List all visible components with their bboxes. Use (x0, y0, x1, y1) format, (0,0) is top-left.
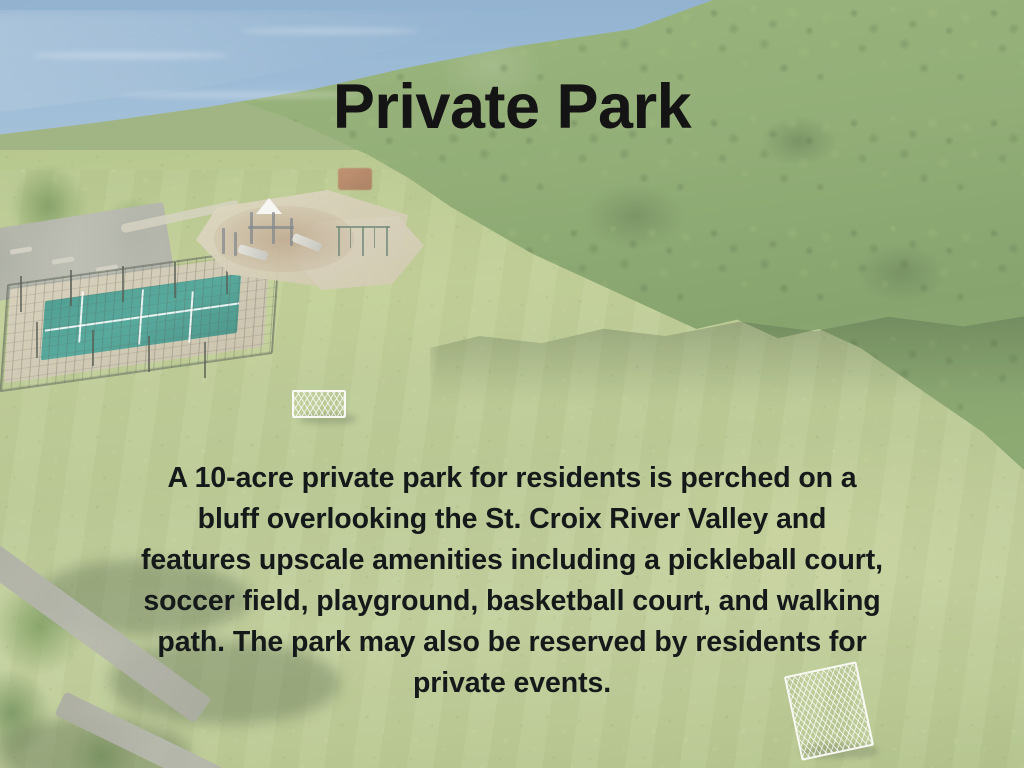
slide-canvas: Private Park A 10-acre private park for … (0, 0, 1024, 768)
page-title: Private Park (0, 76, 1024, 139)
description-text: A 10-acre private park for residents is … (140, 458, 884, 704)
text-overlay: Private Park A 10-acre private park for … (0, 0, 1024, 768)
description-block: A 10-acre private park for residents is … (140, 458, 884, 704)
